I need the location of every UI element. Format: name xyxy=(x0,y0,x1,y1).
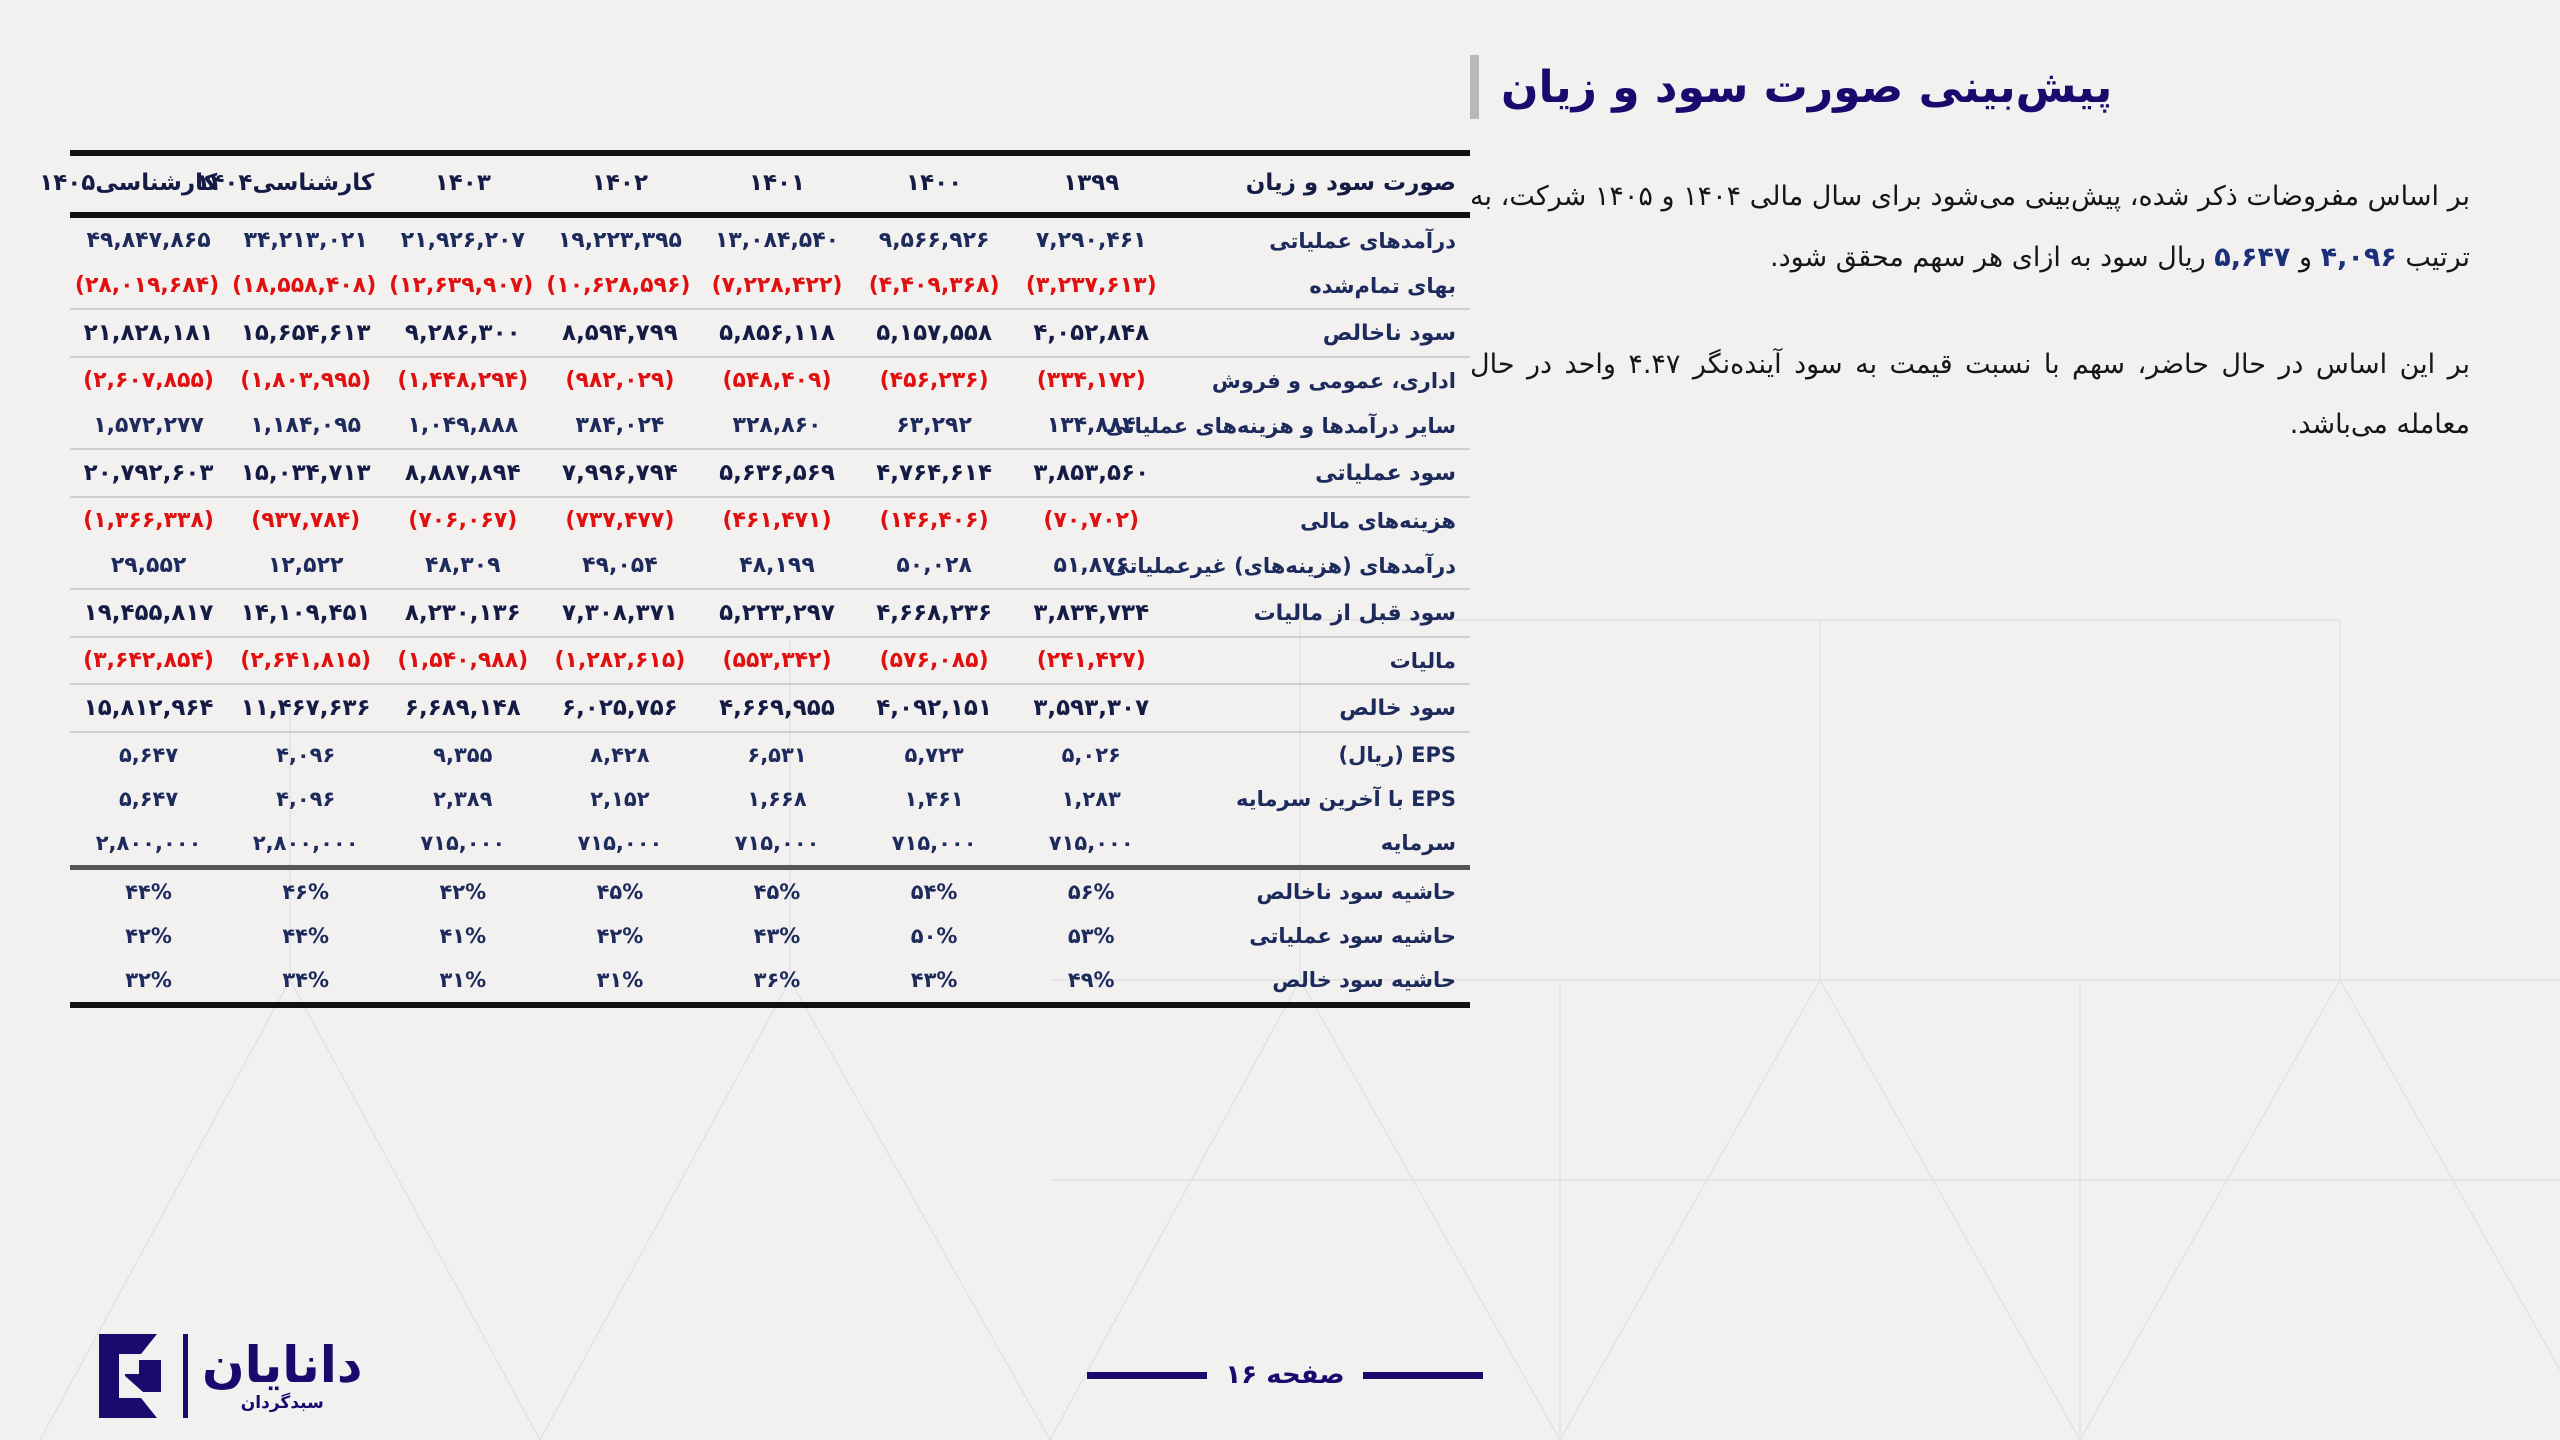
row-label: درآمدهای عملیاتی xyxy=(1170,215,1470,263)
cell-value: ۴۶% xyxy=(227,868,384,915)
cell-value: (۱۲,۶۳۹,۹۰۷) xyxy=(384,263,541,309)
danayan-logo-icon xyxy=(95,1330,169,1422)
row-label: سرمایه xyxy=(1170,821,1470,868)
cell-value: ۳,۸۵۳,۵۶۰ xyxy=(1013,449,1170,497)
cell-value: ۴,۶۶۸,۲۳۶ xyxy=(856,589,1013,637)
row-label: اداری، عمومی و فروش xyxy=(1170,357,1470,403)
cell-value: ۵,۶۴۷ xyxy=(70,732,227,777)
column-header-label: صورت سود و زیان xyxy=(1170,153,1470,215)
cell-value: ۴۳% xyxy=(856,958,1013,1005)
table-row: هزینه‌های مالی(۷۰,۷۰۲)(۱۴۶,۴۰۶)(۴۶۱,۴۷۱)… xyxy=(70,497,1470,543)
cell-value: ۱۱,۴۶۷,۶۳۶ xyxy=(227,684,384,732)
company-logo: دانایان سبدگردان xyxy=(95,1330,363,1422)
cell-value: (۷۳۷,۴۷۷) xyxy=(541,497,698,543)
cell-value: ۸,۸۸۷,۸۹۴ xyxy=(384,449,541,497)
table-row: سود عملیاتی۳,۸۵۳,۵۶۰۴,۷۶۴,۶۱۴۵,۶۳۶,۵۶۹۷,… xyxy=(70,449,1470,497)
cell-value: ۶,۶۸۹,۱۴۸ xyxy=(384,684,541,732)
cell-value: ۷۱۵,۰۰۰ xyxy=(856,821,1013,868)
cell-value: (۴,۴۰۹,۳۶۸) xyxy=(856,263,1013,309)
eps-1404-value: ۴,۰۹۶ xyxy=(2321,242,2397,273)
cell-value: ۷,۹۹۶,۷۹۴ xyxy=(541,449,698,497)
cell-value: (۱۰,۶۲۸,۵۹۶) xyxy=(541,263,698,309)
cell-value: ۳۲% xyxy=(70,958,227,1005)
cell-value: ۸,۵۹۴,۷۹۹ xyxy=(541,309,698,357)
column-header-1404-forecast: کارشناسی۱۴۰۴ xyxy=(227,153,384,215)
row-label: سود خالص xyxy=(1170,684,1470,732)
cell-value: ۱۵,۰۳۴,۷۱۳ xyxy=(227,449,384,497)
table-row: حاشیه سود ناخالص۵۶%۵۴%۴۵%۴۵%۴۲%۴۶%۴۴% xyxy=(70,868,1470,915)
cell-value: (۴۵۶,۲۳۶) xyxy=(856,357,1013,403)
cell-value: ۴۴% xyxy=(70,868,227,915)
table-row: حاشیه سود خالص۴۹%۴۳%۳۶%۳۱%۳۱%۳۴%۳۲% xyxy=(70,958,1470,1005)
cell-value: ۵,۶۴۷ xyxy=(70,777,227,821)
cell-value: ۲,۸۰۰,۰۰۰ xyxy=(70,821,227,868)
cell-value: ۲۰,۷۹۲,۶۰۳ xyxy=(70,449,227,497)
cell-value: ۵۰% xyxy=(856,914,1013,958)
cell-value: ۴,۰۹۶ xyxy=(227,732,384,777)
cell-value: ۸,۲۳۰,۱۳۶ xyxy=(384,589,541,637)
cell-value: (۵۵۳,۳۴۲) xyxy=(698,637,855,684)
cell-value: ۷۱۵,۰۰۰ xyxy=(698,821,855,868)
cell-value: ۳۴% xyxy=(227,958,384,1005)
cell-value: ۸,۴۲۸ xyxy=(541,732,698,777)
table-row: درآمدهای (هزینه‌های) غیرعملیاتی۵۱,۸۷۶۵۰,… xyxy=(70,543,1470,589)
logo-company-subtitle: سبدگردان xyxy=(241,1395,324,1412)
cell-value: ۶,۵۳۱ xyxy=(698,732,855,777)
cell-value: ۴۱% xyxy=(384,914,541,958)
column-header-1400: ۱۴۰۰ xyxy=(856,153,1013,215)
cell-value: ۱,۱۸۴,۰۹۵ xyxy=(227,403,384,449)
cell-value: ۴۹,۸۴۷,۸۶۵ xyxy=(70,215,227,263)
text-panel: پیش‌بینی صورت سود و زیان بر اساس مفروضات… xyxy=(1470,55,2470,483)
cell-value: ۷۱۵,۰۰۰ xyxy=(1013,821,1170,868)
cell-value: ۲,۳۸۹ xyxy=(384,777,541,821)
cell-value: ۳,۵۹۳,۳۰۷ xyxy=(1013,684,1170,732)
cell-value: ۴۲% xyxy=(541,914,698,958)
cell-value: (۹۳۷,۷۸۴) xyxy=(227,497,384,543)
cell-value: ۳۶% xyxy=(698,958,855,1005)
eps-1405-value: ۵,۶۴۷ xyxy=(2214,242,2290,273)
cell-value: ۴۹% xyxy=(1013,958,1170,1005)
row-label: درآمدهای (هزینه‌های) غیرعملیاتی xyxy=(1170,543,1470,589)
cell-value: (۷,۲۲۸,۴۲۲) xyxy=(698,263,855,309)
cell-value: (۴۶۱,۴۷۱) xyxy=(698,497,855,543)
cell-value: (۳۳۴,۱۷۲) xyxy=(1013,357,1170,403)
cell-value: ۴,۶۶۹,۹۵۵ xyxy=(698,684,855,732)
column-header-1399: ۱۳۹۹ xyxy=(1013,153,1170,215)
table-header: صورت سود و زیان ۱۳۹۹ ۱۴۰۰ ۱۴۰۱ ۱۴۰۲ ۱۴۰۳… xyxy=(70,153,1470,215)
cell-value: ۱۹,۲۲۳,۳۹۵ xyxy=(541,215,698,263)
cell-value: ۱,۶۶۸ xyxy=(698,777,855,821)
cell-value: ۴,۰۹۲,۱۵۱ xyxy=(856,684,1013,732)
paragraph-forecast-conj: و xyxy=(2290,242,2320,273)
cell-value: ۷,۳۰۸,۳۷۱ xyxy=(541,589,698,637)
cell-value: (۲,۶۰۷,۸۵۵) xyxy=(70,357,227,403)
column-header-1402: ۱۴۰۲ xyxy=(541,153,698,215)
paragraph-valuation-part1: بر این اساس در حال حاضر، سهم با نسبت قیم… xyxy=(1680,349,2470,380)
cell-value: ۴۲% xyxy=(70,914,227,958)
table-row: سایر درآمدها و هزینه‌های عملیاتی۱۳۴,۸۸۴۶… xyxy=(70,403,1470,449)
table-body: درآمدهای عملیاتی۷,۲۹۰,۴۶۱۹,۵۶۶,۹۲۶۱۳,۰۸۴… xyxy=(70,215,1470,1005)
cell-value: ۱۳,۰۸۴,۵۴۰ xyxy=(698,215,855,263)
row-label: حاشیه سود ناخالص xyxy=(1170,868,1470,915)
cell-value: ۱۴,۱۰۹,۴۵۱ xyxy=(227,589,384,637)
table-row: سرمایه۷۱۵,۰۰۰۷۱۵,۰۰۰۷۱۵,۰۰۰۷۱۵,۰۰۰۷۱۵,۰۰… xyxy=(70,821,1470,868)
page-number: صفحه ۱۶ xyxy=(1225,1360,1344,1390)
table-row: درآمدهای عملیاتی۷,۲۹۰,۴۶۱۹,۵۶۶,۹۲۶۱۳,۰۸۴… xyxy=(70,215,1470,263)
cell-value: (۳,۶۴۲,۸۵۴) xyxy=(70,637,227,684)
cell-value: ۱,۲۸۳ xyxy=(1013,777,1170,821)
cell-value: ۴۸,۳۰۹ xyxy=(384,543,541,589)
cell-value: ۲,۱۵۲ xyxy=(541,777,698,821)
pager-dash-right xyxy=(1087,1372,1207,1379)
cell-value: (۳,۲۳۷,۶۱۳) xyxy=(1013,263,1170,309)
cell-value: ۴۳% xyxy=(698,914,855,958)
title-accent-bar xyxy=(1470,55,1479,119)
cell-value: (۷۰۶,۰۶۷) xyxy=(384,497,541,543)
cell-value: ۱,۵۷۲,۲۷۷ xyxy=(70,403,227,449)
logo-divider xyxy=(183,1334,188,1418)
row-label: سایر درآمدها و هزینه‌های عملیاتی xyxy=(1170,403,1470,449)
cell-value: ۳۱% xyxy=(384,958,541,1005)
cell-value: ۴۵% xyxy=(698,868,855,915)
row-label: سود عملیاتی xyxy=(1170,449,1470,497)
cell-value: ۳,۸۳۴,۷۳۴ xyxy=(1013,589,1170,637)
cell-value: ۱۵,۸۱۲,۹۶۴ xyxy=(70,684,227,732)
cell-value: ۴,۰۵۲,۸۴۸ xyxy=(1013,309,1170,357)
cell-value: ۹,۳۵۵ xyxy=(384,732,541,777)
title-row: پیش‌بینی صورت سود و زیان xyxy=(1470,55,2470,119)
cell-value: (۷۰,۷۰۲) xyxy=(1013,497,1170,543)
cell-value: ۴۴% xyxy=(227,914,384,958)
cell-value: ۶,۰۲۵,۷۵۶ xyxy=(541,684,698,732)
cell-value: (۲۸,۰۱۹,۶۸۴) xyxy=(70,263,227,309)
cell-value: ۱,۴۶۱ xyxy=(856,777,1013,821)
cell-value: ۳۴,۲۱۳,۰۲۱ xyxy=(227,215,384,263)
cell-value: ۹,۲۸۶,۳۰۰ xyxy=(384,309,541,357)
cell-value: ۵۶% xyxy=(1013,868,1170,915)
cell-value: ۵,۶۳۶,۵۶۹ xyxy=(698,449,855,497)
cell-value: (۱۴۶,۴۰۶) xyxy=(856,497,1013,543)
cell-value: ۴,۷۶۴,۶۱۴ xyxy=(856,449,1013,497)
cell-value: ۵,۱۵۷,۵۵۸ xyxy=(856,309,1013,357)
cell-value: ۵۳% xyxy=(1013,914,1170,958)
logo-text-block: دانایان سبدگردان xyxy=(202,1340,363,1412)
table-row: حاشیه سود عملیاتی۵۳%۵۰%۴۳%۴۲%۴۱%۴۴%۴۲% xyxy=(70,914,1470,958)
cell-value: ۷,۲۹۰,۴۶۱ xyxy=(1013,215,1170,263)
row-label: هزینه‌های مالی xyxy=(1170,497,1470,543)
paragraph-forecast: بر اساس مفروضات ذکر شده، پیش‌بینی می‌شود… xyxy=(1470,167,2470,289)
cell-value: ۴۲% xyxy=(384,868,541,915)
row-label: بهای تمام‌شده xyxy=(1170,263,1470,309)
cell-value: ۱۲,۵۲۲ xyxy=(227,543,384,589)
paragraph-valuation: بر این اساس در حال حاضر، سهم با نسبت قیم… xyxy=(1470,335,2470,457)
row-label: سود ناخالص xyxy=(1170,309,1470,357)
table-row: EPS (ریال)۵,۰۲۶۵,۷۲۳۶,۵۳۱۸,۴۲۸۹,۳۵۵۴,۰۹۶… xyxy=(70,732,1470,777)
cell-value: ۵۴% xyxy=(856,868,1013,915)
cell-value: (۲,۶۴۱,۸۱۵) xyxy=(227,637,384,684)
cell-value: ۴,۰۹۶ xyxy=(227,777,384,821)
slide-root: صورت سود و زیان ۱۳۹۹ ۱۴۰۰ ۱۴۰۱ ۱۴۰۲ ۱۴۰۳… xyxy=(0,0,2560,1440)
cell-value: ۲۱,۹۲۶,۲۰۷ xyxy=(384,215,541,263)
cell-value: ۵,۰۲۶ xyxy=(1013,732,1170,777)
pager-dash-left xyxy=(1363,1372,1483,1379)
cell-value: ۵,۷۲۳ xyxy=(856,732,1013,777)
cell-value: ۵۰,۰۲۸ xyxy=(856,543,1013,589)
table-row: مالیات(۲۴۱,۴۲۷)(۵۷۶,۰۸۵)(۵۵۳,۳۴۲)(۱,۲۸۲,… xyxy=(70,637,1470,684)
column-header-1403: ۱۴۰۳ xyxy=(384,153,541,215)
cell-value: ۲۹,۵۵۲ xyxy=(70,543,227,589)
cell-value: ۷۱۵,۰۰۰ xyxy=(384,821,541,868)
table-row: EPS با آخرین سرمایه۱,۲۸۳۱,۴۶۱۱,۶۶۸۲,۱۵۲۲… xyxy=(70,777,1470,821)
row-label: EPS با آخرین سرمایه xyxy=(1170,777,1470,821)
table-row: اداری، عمومی و فروش(۳۳۴,۱۷۲)(۴۵۶,۲۳۶)(۵۴… xyxy=(70,357,1470,403)
cell-value: (۱,۳۶۶,۳۳۸) xyxy=(70,497,227,543)
cell-value: ۲۱,۸۲۸,۱۸۱ xyxy=(70,309,227,357)
cell-value: (۱,۲۸۲,۶۱۵) xyxy=(541,637,698,684)
income-statement-table-zone: صورت سود و زیان ۱۳۹۹ ۱۴۰۰ ۱۴۰۱ ۱۴۰۲ ۱۴۰۳… xyxy=(70,150,1470,1008)
table-row: سود خالص۳,۵۹۳,۳۰۷۴,۰۹۲,۱۵۱۴,۶۶۹,۹۵۵۶,۰۲۵… xyxy=(70,684,1470,732)
slide-footer: دانایان سبدگردان صفحه ۱۶ xyxy=(0,1340,2560,1440)
cell-value: ۱۵,۶۵۴,۶۱۳ xyxy=(227,309,384,357)
cell-value: ۱۹,۴۵۵,۸۱۷ xyxy=(70,589,227,637)
cell-value: (۱,۴۴۸,۲۹۴) xyxy=(384,357,541,403)
row-label: حاشیه سود عملیاتی xyxy=(1170,914,1470,958)
cell-value: ۳۲۸,۸۶۰ xyxy=(698,403,855,449)
row-label: مالیات xyxy=(1170,637,1470,684)
page-indicator: صفحه ۱۶ xyxy=(1075,1360,1495,1390)
cell-value: ۴۹,۰۵۴ xyxy=(541,543,698,589)
forward-pe-value: ۴.۴۷ xyxy=(1628,349,1680,380)
cell-value: ۴۸,۱۹۹ xyxy=(698,543,855,589)
paragraph-forecast-part2: ریال سود به ازای هر سهم محقق شود. xyxy=(1770,242,2214,273)
row-label: سود قبل از مالیات xyxy=(1170,589,1470,637)
cell-value: ۳۱% xyxy=(541,958,698,1005)
cell-value: (۱,۵۴۰,۹۸۸) xyxy=(384,637,541,684)
cell-value: ۷۱۵,۰۰۰ xyxy=(541,821,698,868)
cell-value: ۶۳,۲۹۲ xyxy=(856,403,1013,449)
cell-value: ۵,۲۲۳,۲۹۷ xyxy=(698,589,855,637)
logo-company-name: دانایان xyxy=(202,1340,363,1390)
table-row: سود ناخالص۴,۰۵۲,۸۴۸۵,۱۵۷,۵۵۸۵,۸۵۶,۱۱۸۸,۵… xyxy=(70,309,1470,357)
income-statement-table: صورت سود و زیان ۱۳۹۹ ۱۴۰۰ ۱۴۰۱ ۱۴۰۲ ۱۴۰۳… xyxy=(70,150,1470,1008)
row-label: EPS (ریال) xyxy=(1170,732,1470,777)
header-row: صورت سود و زیان ۱۳۹۹ ۱۴۰۰ ۱۴۰۱ ۱۴۰۲ ۱۴۰۳… xyxy=(70,153,1470,215)
cell-value: (۹۸۲,۰۲۹) xyxy=(541,357,698,403)
cell-value: (۱,۸۰۳,۹۹۵) xyxy=(227,357,384,403)
cell-value: ۴۵% xyxy=(541,868,698,915)
cell-value: ۲,۸۰۰,۰۰۰ xyxy=(227,821,384,868)
cell-value: ۱,۰۴۹,۸۸۸ xyxy=(384,403,541,449)
table-row: بهای تمام‌شده(۳,۲۳۷,۶۱۳)(۴,۴۰۹,۳۶۸)(۷,۲۲… xyxy=(70,263,1470,309)
column-header-1405-forecast: کارشناسی۱۴۰۵ xyxy=(70,153,227,215)
column-header-1401: ۱۴۰۱ xyxy=(698,153,855,215)
cell-value: (۵۴۸,۴۰۹) xyxy=(698,357,855,403)
page-title: پیش‌بینی صورت سود و زیان xyxy=(1501,62,2112,113)
cell-value: (۵۷۶,۰۸۵) xyxy=(856,637,1013,684)
cell-value: ۳۸۴,۰۲۴ xyxy=(541,403,698,449)
cell-value: ۹,۵۶۶,۹۲۶ xyxy=(856,215,1013,263)
cell-value: ۵,۸۵۶,۱۱۸ xyxy=(698,309,855,357)
cell-value: (۲۴۱,۴۲۷) xyxy=(1013,637,1170,684)
cell-value: (۱۸,۵۵۸,۴۰۸) xyxy=(227,263,384,309)
table-row: سود قبل از مالیات۳,۸۳۴,۷۳۴۴,۶۶۸,۲۳۶۵,۲۲۳… xyxy=(70,589,1470,637)
row-label: حاشیه سود خالص xyxy=(1170,958,1470,1005)
